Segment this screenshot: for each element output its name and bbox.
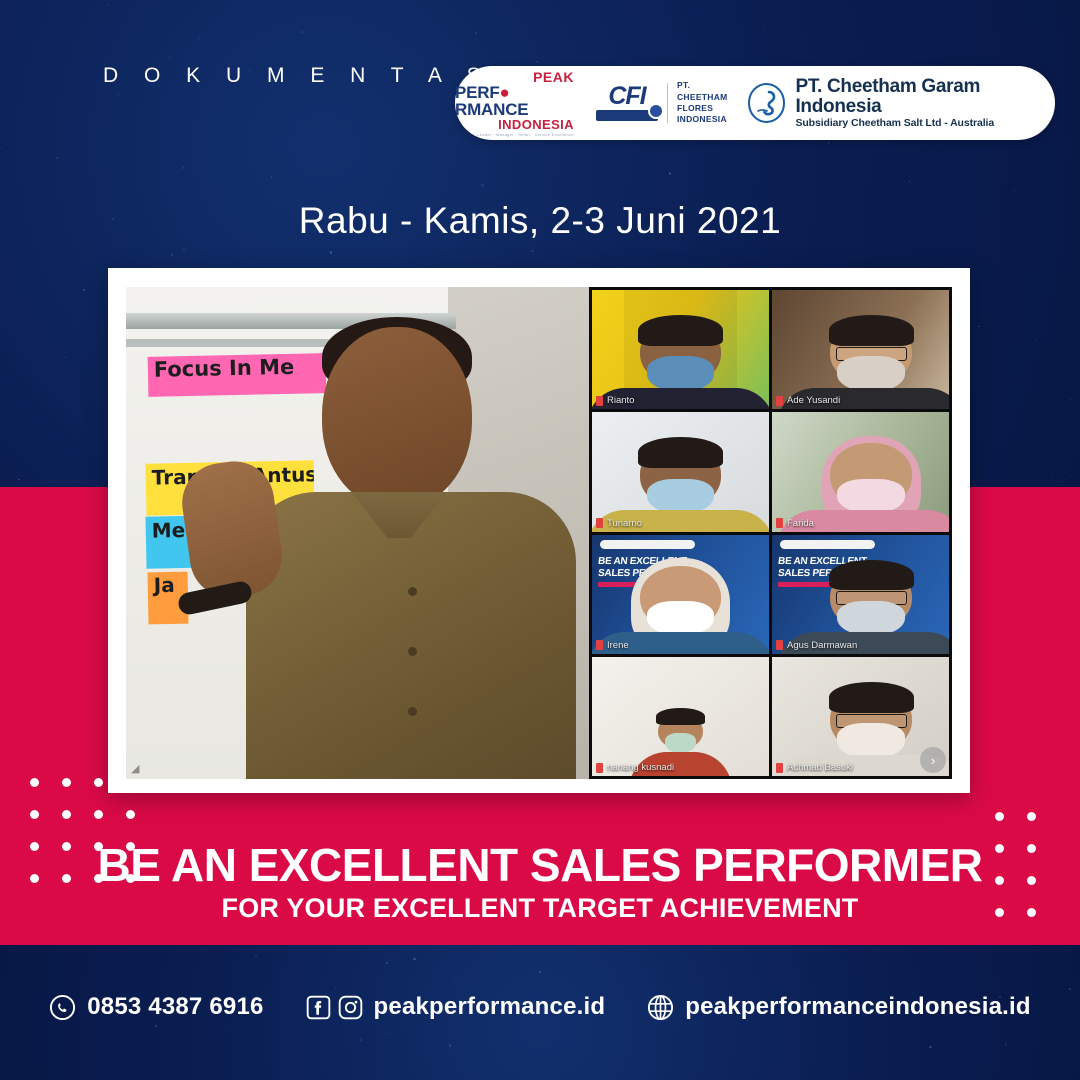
shirt-button bbox=[408, 707, 417, 716]
participant-name: Farida bbox=[787, 518, 814, 529]
participant-face-mask bbox=[837, 356, 904, 391]
cheetham-subtitle: Subsidiary Cheetham Salt Ltd - Australia bbox=[795, 117, 1055, 129]
cfi-text-line4: INDONESIA bbox=[677, 114, 728, 125]
participant-face-mask bbox=[837, 723, 904, 758]
participant-nameplate: Rianto bbox=[596, 395, 634, 406]
screenshot-photo: Focus In Me Transfer Antusiasme Membangu… bbox=[126, 287, 952, 779]
mic-muted-icon bbox=[596, 763, 603, 773]
participant-name: Rianto bbox=[607, 395, 634, 406]
participant-hair bbox=[656, 708, 704, 725]
peak-logo-line3: INDONESIA bbox=[498, 118, 574, 131]
mic-muted-icon bbox=[776, 763, 783, 773]
participant-tile[interactable]: BE AN EXCELLENTSALES PERFORMERIrene bbox=[592, 535, 769, 654]
cfi-mark: CFI bbox=[596, 85, 658, 121]
decorative-dot bbox=[62, 778, 71, 787]
participant-tile[interactable]: Tunarno bbox=[592, 412, 769, 531]
footer-social[interactable]: peakperformance.id bbox=[306, 993, 606, 1021]
mic-muted-icon bbox=[776, 518, 783, 528]
decorative-dot bbox=[62, 810, 71, 819]
website-url: peakperformanceindonesia.id bbox=[685, 993, 1031, 1021]
banner-headline: BE AN EXCELLENT SALES PERFORMER bbox=[0, 838, 1080, 892]
logo-cfi: CFI PT. CHEETHAM FLORES INDONESIA bbox=[596, 80, 728, 126]
logo-peak-performance: PEAK PERF●RMANCE INDONESIA Leader · Mana… bbox=[455, 70, 578, 137]
footer-whatsapp[interactable]: 0853 4387 6916 bbox=[49, 993, 263, 1021]
participant-nameplate: Achmad Basuki bbox=[776, 762, 853, 773]
participant-nameplate: Farida bbox=[776, 518, 814, 529]
peak-logo-line2: PERF●RMANCE bbox=[455, 84, 574, 118]
cheetham-title: PT. Cheetham Garam Indonesia bbox=[795, 77, 1055, 117]
participant-tile[interactable]: Rianto bbox=[592, 290, 769, 409]
cfi-text-line1: PT. bbox=[677, 80, 728, 91]
decorative-dot bbox=[94, 778, 103, 787]
shirt-button bbox=[408, 647, 417, 656]
decorative-dot bbox=[94, 810, 103, 819]
peak-logo-line1: PEAK bbox=[533, 70, 574, 84]
participant-name: nanang kusnadi bbox=[607, 762, 674, 773]
mic-muted-icon bbox=[596, 640, 603, 650]
participant-face-mask bbox=[647, 356, 714, 391]
vbg-logo-bar bbox=[780, 540, 875, 549]
banner-subhead: FOR YOUR EXCELLENT TARGET ACHIEVEMENT bbox=[0, 893, 1080, 924]
poster-canvas: D O K U M E N T A S I PEAK PERF●RMANCE I… bbox=[0, 0, 1080, 1080]
cfi-text-line3: FLORES bbox=[677, 103, 728, 114]
mic-muted-icon bbox=[776, 640, 783, 650]
facebook-icon bbox=[306, 995, 331, 1020]
participant-face-mask bbox=[647, 479, 714, 514]
social-handle: peakperformance.id bbox=[374, 993, 606, 1021]
chevron-right-icon[interactable]: › bbox=[920, 747, 946, 773]
seahorse-icon bbox=[748, 83, 786, 123]
speaker-panel: Focus In Me Transfer Antusiasme Membangu… bbox=[126, 287, 589, 779]
logo-cheetham-garam: PT. Cheetham Garam Indonesia Subsidiary … bbox=[748, 77, 1055, 129]
decorative-dot bbox=[30, 810, 39, 819]
participant-tile[interactable]: nanang kusnadi bbox=[592, 657, 769, 776]
speaker-head bbox=[322, 327, 472, 509]
participant-tile[interactable]: BE AN EXCELLENTSALES PERFORMERAgus Darma… bbox=[772, 535, 949, 654]
participant-name: Irene bbox=[607, 640, 629, 651]
participant-nameplate: Ade Yusandi bbox=[776, 395, 840, 406]
cfi-text-line2: CHEETHAM bbox=[677, 92, 728, 103]
vbg-logo-bar bbox=[600, 540, 695, 549]
cfi-bar-shape bbox=[596, 110, 658, 121]
decorative-dot bbox=[30, 778, 39, 787]
logo-bar: PEAK PERF●RMANCE INDONESIA Leader · Mana… bbox=[455, 66, 1055, 140]
participant-face-mask bbox=[837, 479, 904, 514]
event-date: Rabu - Kamis, 2-3 Juni 2021 bbox=[0, 200, 1080, 242]
participant-nameplate: Agus Darmawan bbox=[776, 640, 857, 651]
participant-hair bbox=[829, 560, 914, 591]
participant-tile[interactable]: Farida bbox=[772, 412, 949, 531]
shirt-button bbox=[408, 587, 417, 596]
participant-face-mask bbox=[665, 733, 696, 752]
peak-logo-tagline: Leader · Manager · Seller · Service Exce… bbox=[477, 133, 574, 137]
mic-muted-icon bbox=[596, 396, 603, 406]
participant-hair bbox=[829, 315, 914, 346]
participant-name: Achmad Basuki bbox=[787, 762, 853, 773]
participant-nameplate: nanang kusnadi bbox=[596, 762, 674, 773]
participant-tile[interactable]: Ade Yusandi bbox=[772, 290, 949, 409]
decorative-dot bbox=[126, 810, 135, 819]
mic-muted-icon bbox=[596, 518, 603, 528]
sticky-note-1: Focus In Me bbox=[148, 353, 327, 397]
participant-hair bbox=[829, 682, 914, 713]
footer-contact-bar: 0853 4387 6916 peakperformance.id bbox=[0, 993, 1080, 1021]
cfi-globe-icon bbox=[648, 103, 664, 119]
participant-hair bbox=[638, 437, 723, 468]
footer-website[interactable]: peakperformanceindonesia.id bbox=[647, 993, 1031, 1021]
cfi-wordmark: CFI bbox=[608, 85, 645, 108]
participant-nameplate: Irene bbox=[596, 640, 629, 651]
whatsapp-icon bbox=[49, 994, 76, 1021]
cfi-company-text: PT. CHEETHAM FLORES INDONESIA bbox=[677, 80, 728, 126]
whatsapp-number: 0853 4387 6916 bbox=[87, 993, 263, 1021]
instagram-icon bbox=[338, 995, 363, 1020]
participant-name: Agus Darmawan bbox=[787, 640, 857, 651]
photo-frame: Focus In Me Transfer Antusiasme Membangu… bbox=[108, 268, 970, 793]
participant-nameplate: Tunarno bbox=[596, 518, 642, 529]
decorative-dot bbox=[995, 812, 1004, 821]
participant-name: Tunarno bbox=[607, 518, 642, 529]
globe-icon bbox=[647, 994, 674, 1021]
participant-hair bbox=[638, 315, 723, 346]
resize-handle-icon[interactable]: ◢ bbox=[131, 762, 139, 775]
participant-name: Ade Yusandi bbox=[787, 395, 840, 406]
mic-muted-icon bbox=[776, 396, 783, 406]
decorative-dot bbox=[1027, 812, 1036, 821]
zoom-gallery: RiantoAde YusandiTunarnoFaridaBE AN EXCE… bbox=[589, 287, 952, 779]
logo-divider bbox=[667, 83, 668, 123]
